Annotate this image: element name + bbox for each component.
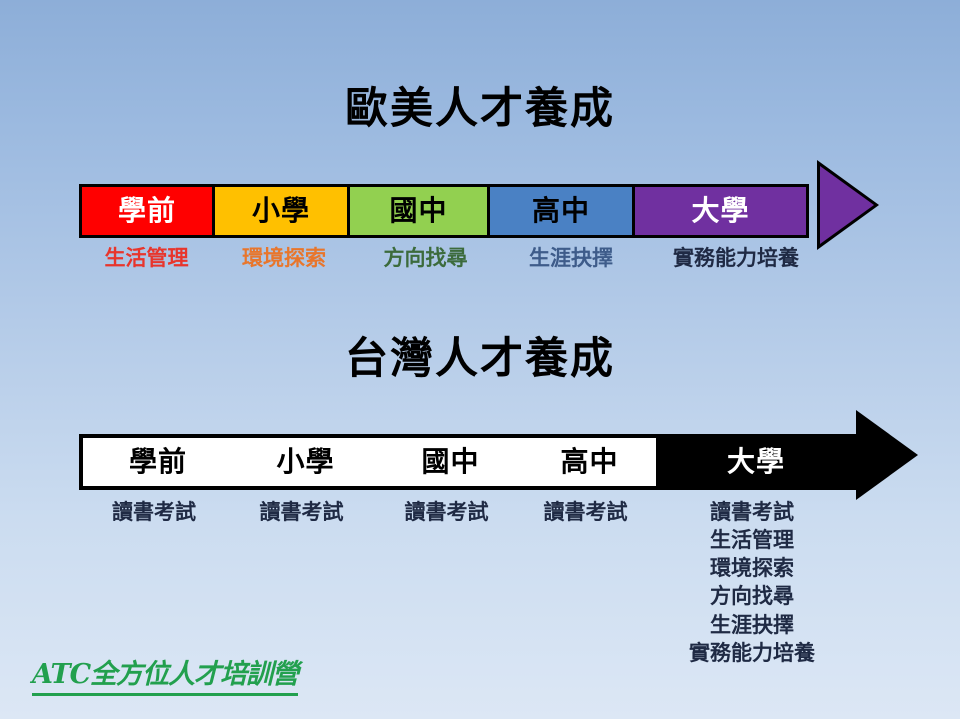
taiwan-pipeline-arrow: 學前 小學 國中 高中 大學 讀書考試 讀書考試 讀書考試 讀書考試 讀書考試生… xyxy=(0,410,960,680)
taiwan-stage-bar: 學前 小學 國中 高中 大學 xyxy=(79,434,860,490)
taiwan-sublabel-line: 環境探索 xyxy=(652,554,852,582)
taiwan-section-title: 台灣人才養成 xyxy=(0,338,960,381)
taiwan-sublabel-line: 讀書考試 xyxy=(374,498,519,526)
western-stage-elementary-label: 小學 xyxy=(252,197,310,225)
taiwan-sublabel-row: 讀書考試 讀書考試 讀書考試 讀書考試 讀書考試生活管理環境探索方向找尋生涯抉擇… xyxy=(79,498,852,667)
western-sublabel-university-text: 實務能力培養 xyxy=(645,244,827,272)
taiwan-sublabel-elementary: 讀書考試 xyxy=(229,498,374,526)
western-section-title: 歐美人才養成 xyxy=(0,88,960,131)
atc-logo-wordmark: ATC全方位人才培訓營 xyxy=(32,652,298,696)
taiwan-sublabel-university: 讀書考試生活管理環境探索方向找尋生涯抉擇實務能力培養 xyxy=(652,498,852,667)
slide-canvas: 歐美人才養成 學前 小學 國中 高中 大學 生活管理 xyxy=(0,0,960,719)
western-sublabel-elementary-text: 環境探索 xyxy=(214,244,354,272)
western-stage-seniorhigh-label: 高中 xyxy=(532,197,590,225)
western-sublabel-seniorhigh-text: 生涯抉擇 xyxy=(497,244,645,272)
taiwan-stage-elementary[interactable]: 小學 xyxy=(233,438,378,486)
western-stage-seniorhigh[interactable]: 高中 xyxy=(487,187,632,235)
taiwan-stage-seniorhigh-label: 高中 xyxy=(560,448,618,476)
taiwan-sublabel-line: 讀書考試 xyxy=(79,498,229,526)
taiwan-sublabel-line: 實務能力培養 xyxy=(652,639,852,667)
western-sublabel-juniorhigh-text: 方向找尋 xyxy=(354,244,497,272)
western-sublabel-preschool: 生活管理 xyxy=(79,244,214,272)
taiwan-stage-juniorhigh-label: 國中 xyxy=(421,448,479,476)
taiwan-stage-university[interactable]: 大學 xyxy=(656,438,856,486)
taiwan-arrow-head-fill xyxy=(859,416,913,494)
western-sublabel-seniorhigh: 生涯抉擇 xyxy=(497,244,645,272)
taiwan-stage-elementary-label: 小學 xyxy=(276,448,334,476)
taiwan-sublabel-juniorhigh: 讀書考試 xyxy=(374,498,519,526)
western-stage-university-label: 大學 xyxy=(691,197,749,225)
taiwan-sublabel-preschool: 讀書考試 xyxy=(79,498,229,526)
taiwan-stage-university-label: 大學 xyxy=(727,448,785,476)
taiwan-stage-juniorhigh[interactable]: 國中 xyxy=(378,438,523,486)
taiwan-sublabel-seniorhigh: 讀書考試 xyxy=(519,498,652,526)
taiwan-sublabel-line: 讀書考試 xyxy=(519,498,652,526)
western-stage-juniorhigh-label: 國中 xyxy=(389,197,447,225)
taiwan-sublabel-line: 方向找尋 xyxy=(652,582,852,610)
western-sublabel-preschool-text: 生活管理 xyxy=(79,244,214,272)
western-sublabel-juniorhigh: 方向找尋 xyxy=(354,244,497,272)
western-sublabel-elementary: 環境探索 xyxy=(214,244,354,272)
taiwan-sublabel-line: 讀書考試 xyxy=(652,498,852,526)
western-stage-elementary[interactable]: 小學 xyxy=(212,187,347,235)
western-arrow-head-fill xyxy=(820,166,874,244)
western-stage-preschool[interactable]: 學前 xyxy=(82,187,212,235)
western-stage-university[interactable]: 大學 xyxy=(632,187,806,235)
western-stage-bar: 學前 小學 國中 高中 大學 xyxy=(79,184,809,238)
taiwan-sublabel-line: 生涯抉擇 xyxy=(652,611,852,639)
western-stage-preschool-label: 學前 xyxy=(118,197,176,225)
western-sublabel-row: 生活管理 環境探索 方向找尋 生涯抉擇 實務能力培養 xyxy=(79,244,827,272)
taiwan-stage-preschool[interactable]: 學前 xyxy=(83,438,233,486)
taiwan-stage-seniorhigh[interactable]: 高中 xyxy=(523,438,656,486)
taiwan-sublabel-line: 讀書考試 xyxy=(229,498,374,526)
western-pipeline-arrow: 學前 小學 國中 高中 大學 生活管理 環境探索 方向找尋 xyxy=(0,160,960,270)
taiwan-sublabel-line: 生活管理 xyxy=(652,526,852,554)
western-stage-juniorhigh[interactable]: 國中 xyxy=(347,187,487,235)
taiwan-stage-preschool-label: 學前 xyxy=(129,448,187,476)
western-sublabel-university: 實務能力培養 xyxy=(645,244,827,272)
